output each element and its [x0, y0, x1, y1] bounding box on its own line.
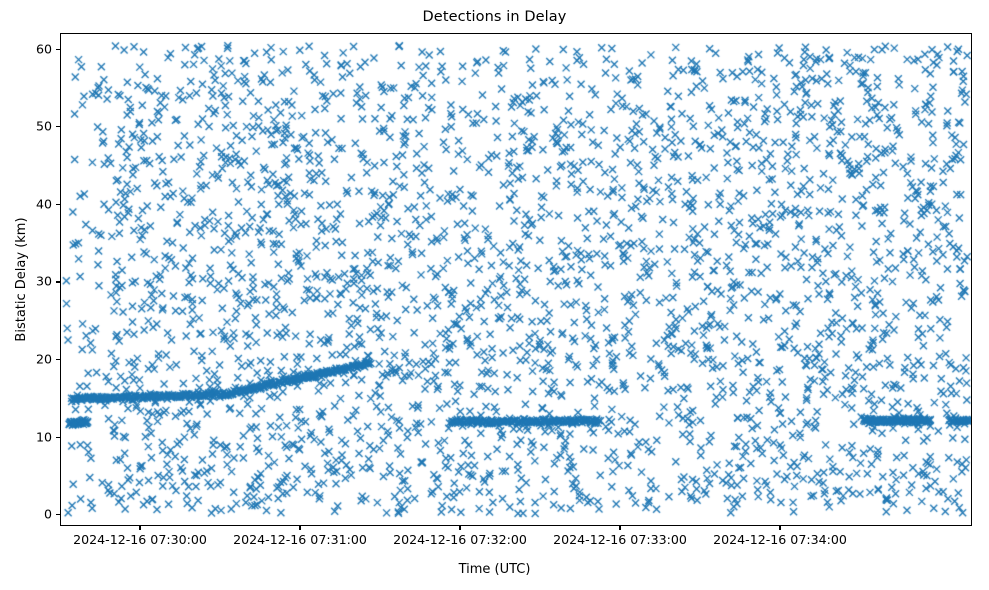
x-tick-mark [459, 526, 460, 530]
x-tick-label: 2024-12-16 07:32:00 [370, 532, 550, 547]
x-tick-label: 2024-12-16 07:34:00 [690, 532, 870, 547]
x-tick-mark [139, 526, 140, 530]
x-tick-label: 2024-12-16 07:33:00 [530, 532, 710, 547]
x-tick-mark [779, 526, 780, 530]
x-tick-label: 2024-12-16 07:30:00 [50, 532, 230, 547]
x-tick-mark [299, 526, 300, 530]
x-tick-mark [619, 526, 620, 530]
x-axis-title: Time (UTC) [0, 562, 989, 577]
x-axis-ticks: 2024-12-16 07:30:002024-12-16 07:31:0020… [0, 0, 989, 590]
matplotlib-figure: Detections in Delay 0102030405060 2024-1… [0, 0, 989, 590]
x-tick-label: 2024-12-16 07:31:00 [210, 532, 390, 547]
y-axis-title: Bistatic Delay (km) [14, 33, 34, 526]
